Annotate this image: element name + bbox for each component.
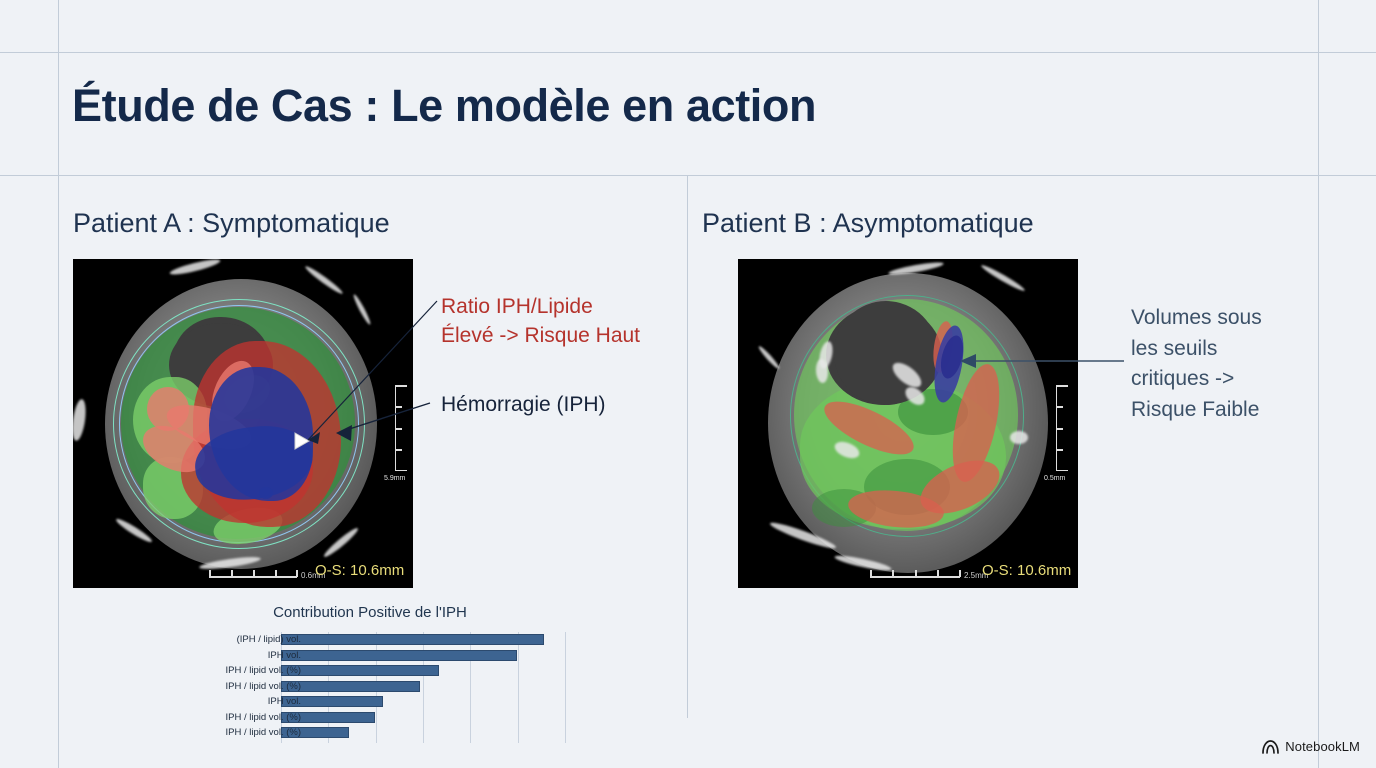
chart-bar <box>281 665 439 676</box>
chart-category-label: IPH / lipid vol. (%) <box>226 665 302 676</box>
chart-title: Contribution Positive de l'IPH <box>150 604 590 621</box>
white-arrowhead-marker <box>295 433 309 449</box>
carotid-mri-patient-a: 5.9mm 0.6mm O-S: 10.6mm <box>73 259 413 588</box>
chart-bar <box>281 634 544 645</box>
annotation-hemorrhage: Hémorragie (IPH) <box>441 390 606 419</box>
notebooklm-logo-text: NotebookLM <box>1285 739 1360 754</box>
carotid-mri-patient-b: 0.5mm 2.5mm O-S: 10.6mm <box>738 259 1078 588</box>
chart-gridline-6 <box>565 632 566 743</box>
notebooklm-logo: NotebookLM <box>1262 739 1360 754</box>
chart-category-label: IPH / lipid vol. (%) <box>226 727 302 738</box>
chart-bar-row <box>281 681 420 692</box>
annotation-ratio-high-risk: Ratio IPH/Lipide Élevé -> Risque Haut <box>441 292 640 350</box>
chart-bar <box>281 681 420 692</box>
annotation-below-threshold: Volumes sous les seuils critiques -> Ris… <box>1131 303 1262 425</box>
ruler-bracket-a <box>395 385 408 471</box>
chart-category-label: (IPH / lipid) vol. <box>237 634 301 645</box>
os-measurement-a: O-S: 10.6mm <box>315 562 404 579</box>
os-measurement-b: O-S: 10.6mm <box>982 562 1071 579</box>
chart-bar-row <box>281 650 517 661</box>
chart-plot-area <box>281 632 565 743</box>
grid-line-horizontal-top <box>0 52 1376 53</box>
ruler-bracket-b <box>1056 385 1069 471</box>
slide-root: Étude de Cas : Le modèle en action Patie… <box>0 0 1376 768</box>
chart-gridline-5 <box>518 632 519 743</box>
chart-category-label: IPH / lipid vol. (%) <box>226 681 302 692</box>
panel-a-heading: Patient A : Symptomatique <box>73 208 390 239</box>
grid-line-vertical-right <box>1318 0 1319 768</box>
chart-category-label: IPH / lipid vol. (%) <box>226 712 302 723</box>
notebooklm-arch-icon <box>1262 740 1279 754</box>
chart-bar <box>281 650 517 661</box>
chart-bar-row <box>281 634 544 645</box>
panel-b-heading: Patient B : Asymptomatique <box>702 208 1034 239</box>
chart-category-label: IPH vol. <box>268 696 301 707</box>
page-title: Étude de Cas : Le modèle en action <box>72 80 816 132</box>
ruler-label-a: 5.9mm <box>384 475 405 482</box>
ruler-label-b: 0.5mm <box>1044 475 1065 482</box>
chart-bar-row <box>281 665 439 676</box>
chart-iph-contribution: Contribution Positive de l'IPH (IPH / li… <box>150 604 590 754</box>
chart-category-label: IPH vol. <box>268 650 301 661</box>
